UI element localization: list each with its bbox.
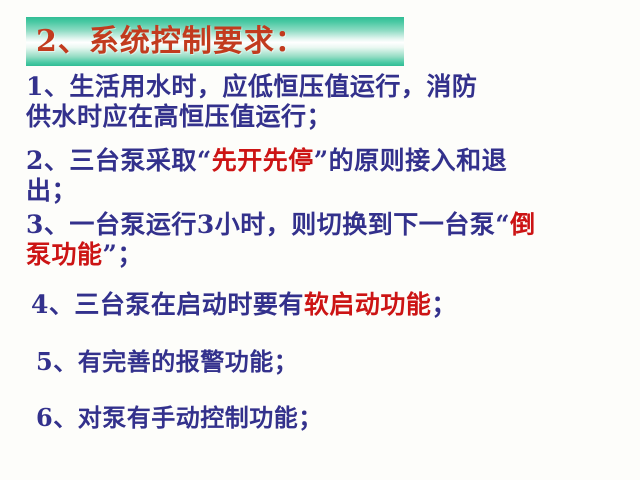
list-item-line: 1、生活用水时，应低恒压值运行，消防 xyxy=(26,72,626,102)
slide-canvas: 2、系统控制要求： 1、生活用水时，应低恒压值运行，消防供水时应在高恒压值运行；… xyxy=(0,0,640,480)
slide-title-banner: 2、系统控制要求： xyxy=(26,17,404,66)
list-item: 6、对泵有手动控制功能； xyxy=(36,404,636,432)
list-item: 5、有完善的报警功能； xyxy=(36,348,636,376)
list-item-line: 泵功能”； xyxy=(26,240,626,270)
list-item: 4、三台泵在启动时要有软启动功能； xyxy=(31,290,631,320)
highlighted-text: 先开先停 xyxy=(212,146,314,175)
body-text: 出； xyxy=(26,176,77,205)
body-text: 3、一台泵运行3小时，则切换到下一台泵“ xyxy=(26,210,510,239)
list-item-line: 2、三台泵采取“先开先停”的原则接入和退 xyxy=(26,146,626,176)
list-item-line: 5、有完善的报警功能； xyxy=(36,348,636,376)
list-item: 3、一台泵运行3小时，则切换到下一台泵“倒泵功能”； xyxy=(26,210,626,269)
list-item: 1、生活用水时，应低恒压值运行，消防供水时应在高恒压值运行； xyxy=(26,72,626,131)
list-item: 2、三台泵采取“先开先停”的原则接入和退出； xyxy=(26,146,626,205)
body-text: ”； xyxy=(103,240,143,269)
page-title: 2、系统控制要求： xyxy=(26,27,306,57)
body-text: ”的原则接入和退 xyxy=(314,146,507,175)
body-text: 4、三台泵在启动时要有 xyxy=(31,290,304,319)
list-item-line: 4、三台泵在启动时要有软启动功能； xyxy=(31,290,631,320)
list-item-line: 6、对泵有手动控制功能； xyxy=(36,404,636,432)
highlighted-text: 倒 xyxy=(510,210,536,239)
body-text: 供水时应在高恒压值运行； xyxy=(26,102,332,131)
list-item-line: 出； xyxy=(26,176,626,206)
body-text: 6、对泵有手动控制功能； xyxy=(36,403,323,432)
list-item-line: 供水时应在高恒压值运行； xyxy=(26,102,626,132)
highlighted-text: 泵功能 xyxy=(26,240,103,269)
body-text: 5、有完善的报警功能； xyxy=(36,347,298,376)
body-text: ； xyxy=(431,290,457,319)
body-text: 1、生活用水时，应低恒压值运行，消防 xyxy=(26,72,477,101)
body-text: 2、三台泵采取“ xyxy=(26,146,212,175)
highlighted-text: 软启动功能 xyxy=(304,290,432,319)
list-item-line: 3、一台泵运行3小时，则切换到下一台泵“倒 xyxy=(26,210,626,240)
